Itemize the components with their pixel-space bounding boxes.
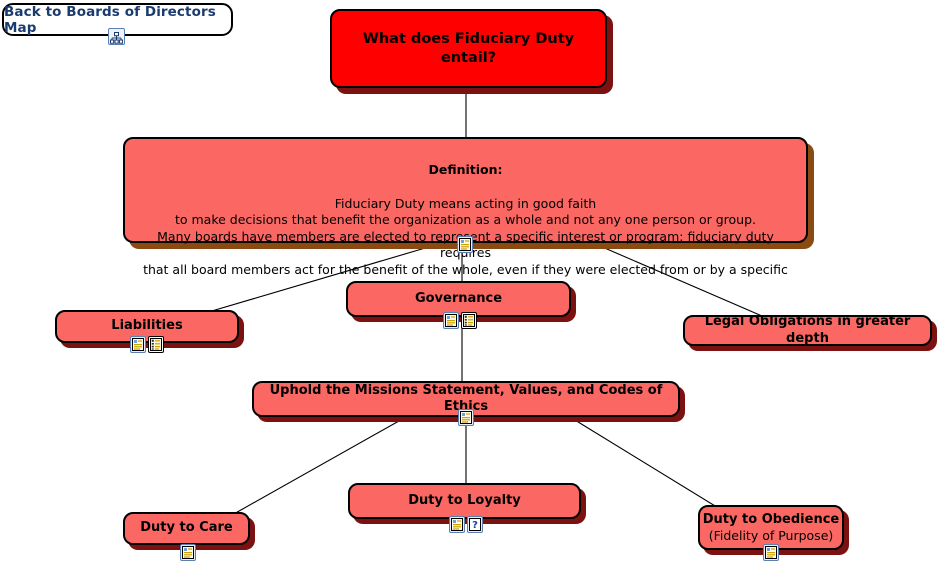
note-icon[interactable] bbox=[130, 336, 146, 353]
note-icon[interactable] bbox=[449, 516, 465, 533]
list-document-icon[interactable] bbox=[461, 312, 477, 329]
node-duty-to-obedience-label: Duty to Obedience bbox=[703, 512, 839, 528]
list-document-icon[interactable] bbox=[148, 336, 164, 353]
node-duty-to-care-label: Duty to Care bbox=[130, 520, 242, 536]
node-definition-text: Definition: Fiduciary Duty means acting … bbox=[125, 139, 806, 299]
edge-uphold-to-duty-obedience bbox=[570, 417, 720, 509]
node-root-question[interactable]: What does Fiduciary Duty entail? bbox=[330, 9, 607, 88]
mindmap-canvas: Back to Boards of Directors Map What doe… bbox=[0, 0, 940, 565]
node-liabilities-icon-tray bbox=[130, 336, 164, 353]
node-definition-title: Definition: bbox=[135, 162, 796, 179]
node-duty-to-obedience-icon-tray bbox=[763, 544, 779, 561]
node-duty-to-obedience-sublabel: (Fidelity of Purpose) bbox=[709, 528, 834, 544]
svg-text:?: ? bbox=[472, 520, 478, 531]
node-governance-icon-tray bbox=[443, 312, 477, 329]
note-icon[interactable] bbox=[457, 236, 473, 253]
mindmap-nav-icon[interactable] bbox=[108, 28, 125, 45]
node-duty-to-loyalty-label: Duty to Loyalty bbox=[398, 493, 531, 509]
back-button-icon-tray bbox=[108, 28, 125, 45]
node-definition[interactable]: Definition: Fiduciary Duty means acting … bbox=[123, 137, 808, 243]
question-icon[interactable]: ? bbox=[467, 516, 483, 533]
note-icon[interactable] bbox=[763, 544, 779, 561]
node-root-label: What does Fiduciary Duty entail? bbox=[332, 30, 605, 66]
node-definition-icon-tray bbox=[457, 236, 473, 253]
node-legal-obligations-label: Legal Obligations in greater depth bbox=[685, 314, 930, 347]
node-uphold-mission-icon-tray bbox=[458, 409, 474, 426]
node-duty-to-care[interactable]: Duty to Care bbox=[123, 512, 250, 545]
note-icon[interactable] bbox=[443, 312, 459, 329]
node-liabilities-label: Liabilities bbox=[101, 318, 192, 334]
node-duty-to-loyalty-icon-tray: ? bbox=[449, 516, 483, 533]
node-governance-label: Governance bbox=[405, 291, 512, 307]
note-icon[interactable] bbox=[458, 409, 474, 426]
node-legal-obligations[interactable]: Legal Obligations in greater depth bbox=[683, 315, 932, 346]
node-duty-to-care-icon-tray bbox=[180, 544, 196, 561]
note-icon[interactable] bbox=[180, 544, 196, 561]
node-duty-to-loyalty[interactable]: Duty to Loyalty bbox=[348, 483, 581, 519]
